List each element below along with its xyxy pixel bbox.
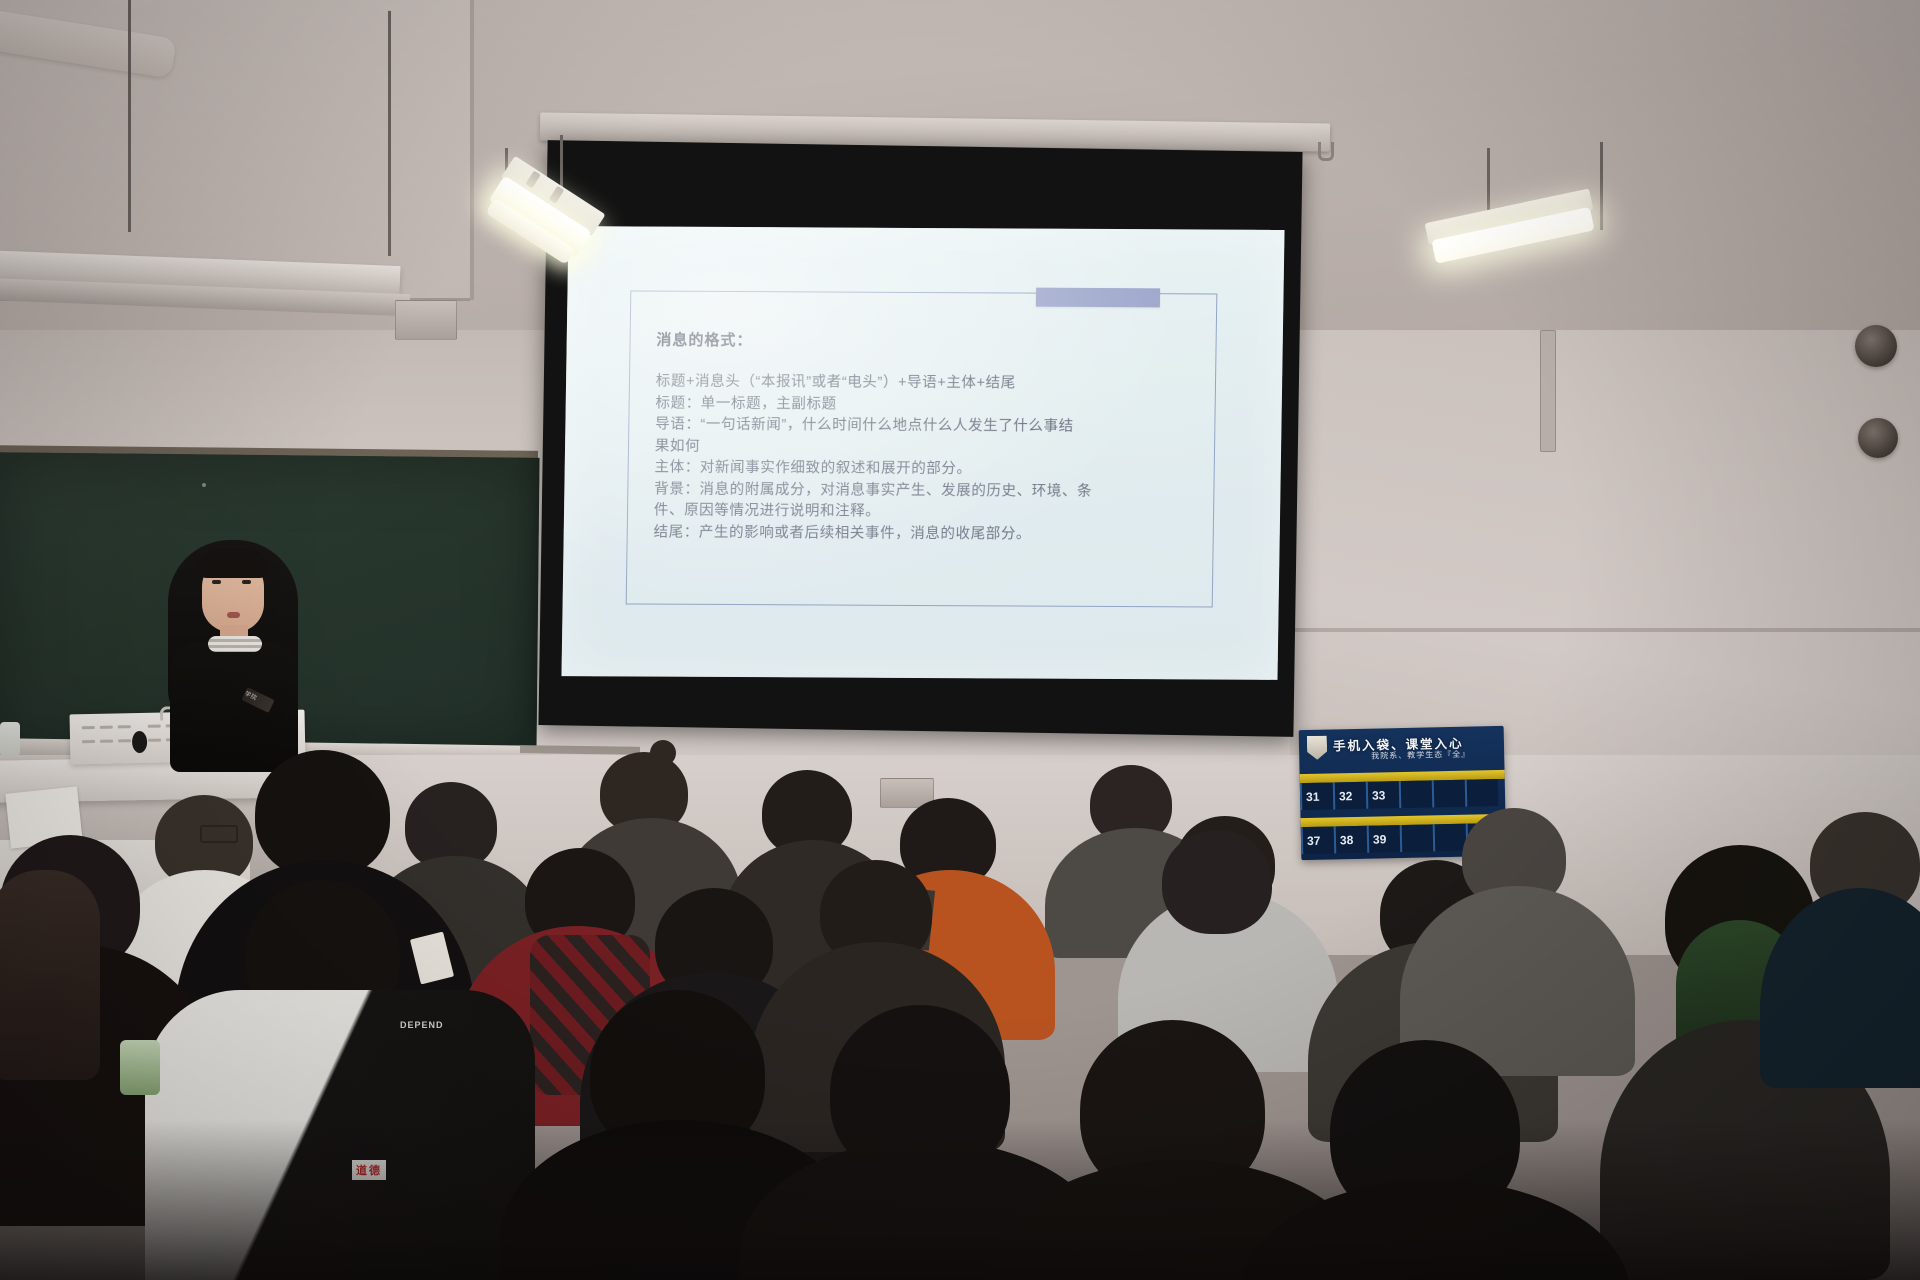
classroom-photo: 消息的格式： 标题+消息头（“本报讯”或者“电头”）+导语+主体+结尾 标题：单…: [0, 0, 1920, 1280]
rod-ceiling-mount: [376, 2, 408, 11]
speaker-lower: [1858, 418, 1898, 458]
student-bun: [650, 740, 676, 766]
presenter-mouth: [227, 612, 240, 618]
slide-heading: 消息的格式：: [656, 329, 1216, 353]
student-long-hair: [0, 870, 100, 1080]
slide-text-block: 消息的格式： 标题+消息头（“本报讯”或者“电头”）+导语+主体+结尾 标题：单…: [653, 329, 1216, 547]
water-bottle-student: [120, 1040, 160, 1095]
slide-line: 果如何: [655, 436, 1215, 460]
audience: 道德 DEPEND: [0, 720, 1920, 1280]
ceiling-seam: [470, 0, 474, 300]
student-head: [255, 750, 390, 878]
hanging-rod: [128, 0, 131, 232]
hanging-rod: [388, 8, 391, 256]
speaker-upper: [1855, 325, 1897, 367]
conduit-right: [1540, 330, 1556, 452]
right-wall-seam: [1290, 628, 1920, 632]
slide-line: 导语：“一句话新闻”，什么时间什么地点什么人发生了什么事结: [655, 415, 1215, 439]
jacket-text-tag: 道德: [352, 1160, 386, 1180]
slide-line: 标题：单一标题，主副标题: [655, 393, 1215, 417]
slide-line: 结尾：产生的影响或者后续相关事件，消息的收尾部分。: [653, 522, 1213, 546]
slide-line: 主体：对新闻事实作细致的叙述和展开的部分。: [654, 458, 1214, 482]
slide-accent-bar: [1036, 288, 1160, 308]
student-jacket: [145, 990, 535, 1280]
chalk-speck: [202, 483, 206, 487]
presenter-fringe: [198, 548, 268, 578]
screen-pull-hook: [1318, 142, 1334, 161]
slide-line: 标题+消息头（“本报讯”或者“电头”）+导语+主体+结尾: [656, 372, 1216, 396]
eyeglasses-icon: [200, 825, 238, 843]
wall-box-left: [395, 300, 457, 340]
shirt-text-tag: DEPEND: [400, 1020, 444, 1030]
slide-line: 件、原因等情况进行说明和注释。: [654, 501, 1214, 525]
slide-line: 背景：消息的附属成分，对消息事实产生、发展的历史、环境、条: [654, 479, 1214, 503]
student-head: [1162, 830, 1272, 934]
lamp-rod: [560, 135, 563, 187]
lamp-rod: [1600, 142, 1603, 230]
presenter-collar: [208, 636, 262, 652]
